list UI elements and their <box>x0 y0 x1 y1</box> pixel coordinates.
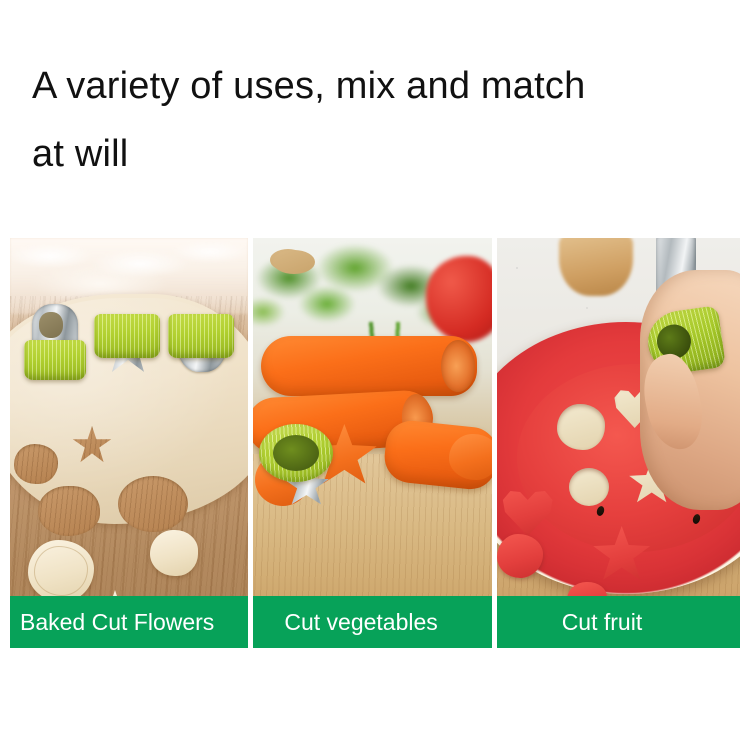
panel-baked-cut-flowers[interactable]: Baked Cut Flowers <box>10 238 248 648</box>
caption-cut-fruit: Cut fruit <box>497 596 740 648</box>
carrot-shaped-slice-b <box>449 434 491 480</box>
wooden-utensil <box>559 238 633 296</box>
cutter-handle-icon <box>259 424 333 482</box>
melon-cutout-flower <box>557 404 605 450</box>
cut-dough-flower-shape <box>28 540 94 602</box>
page-headline: A variety of uses, mix and match at will <box>32 52 732 188</box>
photo-baked-cut-flowers <box>10 238 248 648</box>
melon-piece-blob <box>497 534 543 578</box>
melon-cutout-round <box>569 468 609 506</box>
dough-cutout-round-a <box>14 444 58 484</box>
photo-cut-fruit <box>497 238 740 648</box>
photo-cut-vegetables <box>253 238 491 648</box>
dough-cutout-round-c <box>118 476 188 532</box>
panel-cut-fruit[interactable]: Cut fruit <box>497 238 740 648</box>
cutter-handle-icon <box>24 340 86 380</box>
panel-cut-vegetables[interactable]: Cut vegetables <box>253 238 491 648</box>
cutter-handle-icon <box>94 314 160 358</box>
cutter-handle-icon <box>168 314 234 358</box>
dough-cutout-round-b <box>38 486 100 536</box>
carrot-large <box>261 336 477 396</box>
cookie-cutter-round <box>24 304 86 380</box>
product-use-panels: Baked Cut Flowers Cut vegetables <box>10 238 740 648</box>
cookie-cutter-flower <box>168 294 234 386</box>
caption-baked-cut-flowers: Baked Cut Flowers <box>10 596 248 648</box>
melon-seed <box>595 505 605 517</box>
cookie-cutter-star <box>94 294 160 388</box>
caption-cut-vegetables: Cut vegetables <box>253 596 491 648</box>
cut-dough-round-shape <box>150 530 198 576</box>
vegetable-cutter-tool <box>259 424 351 508</box>
melon-seed <box>691 513 701 525</box>
